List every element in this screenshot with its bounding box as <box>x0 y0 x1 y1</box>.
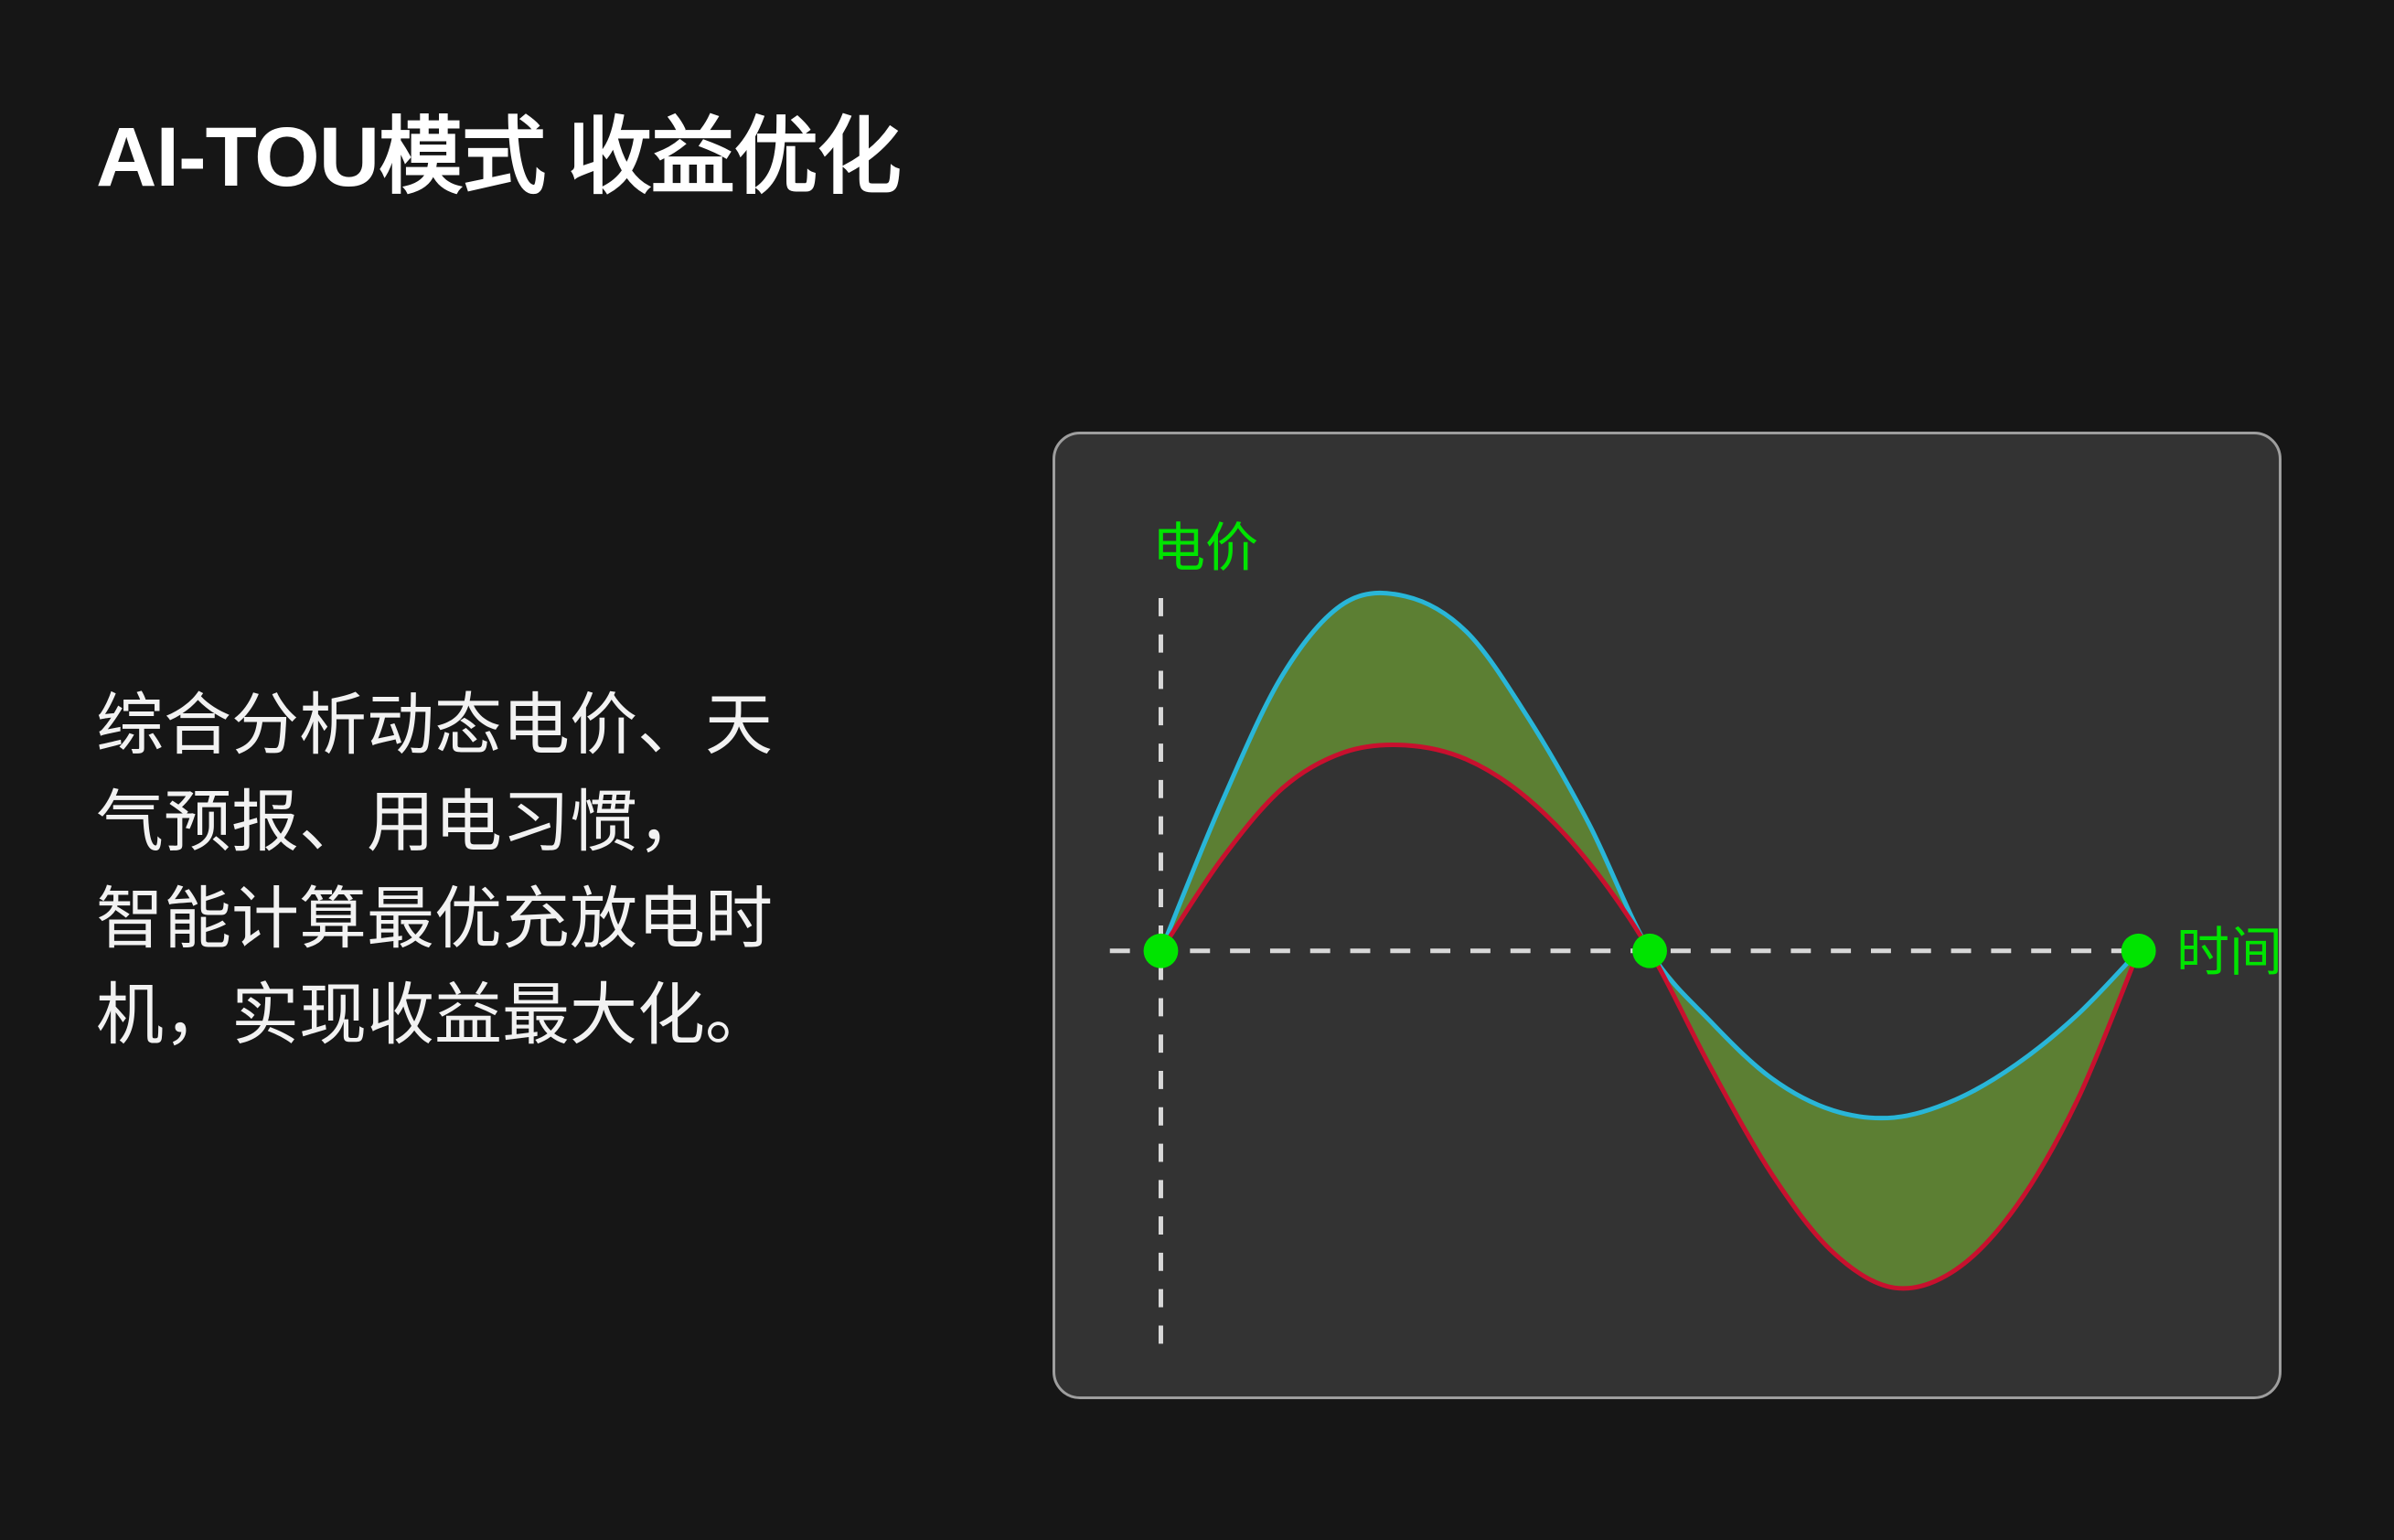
chart-card: 电价 时间 <box>1053 432 2282 1399</box>
left-content-column: AI-TOU模式 收益优化 <box>96 110 1010 207</box>
crossing-point-marker <box>1144 934 1179 968</box>
body-paragraph: 综合分析动态电价、天 气预报、用电习惯， 智能计算最优充放电时 机，实现收益最大… <box>96 677 937 1064</box>
page-root: AI-TOU模式 收益优化 综合分析动态电价、天 气预报、用电习惯， 智能计算最… <box>0 0 2394 1540</box>
crossing-point-marker <box>1632 934 1667 968</box>
x-axis-label: 时间 <box>2176 926 2282 979</box>
price-optimization-chart <box>1055 434 2279 1396</box>
page-title: AI-TOU模式 收益优化 <box>96 110 1010 207</box>
crossing-point-marker <box>2121 934 2156 968</box>
y-axis-label: 电价 <box>1152 522 1258 575</box>
